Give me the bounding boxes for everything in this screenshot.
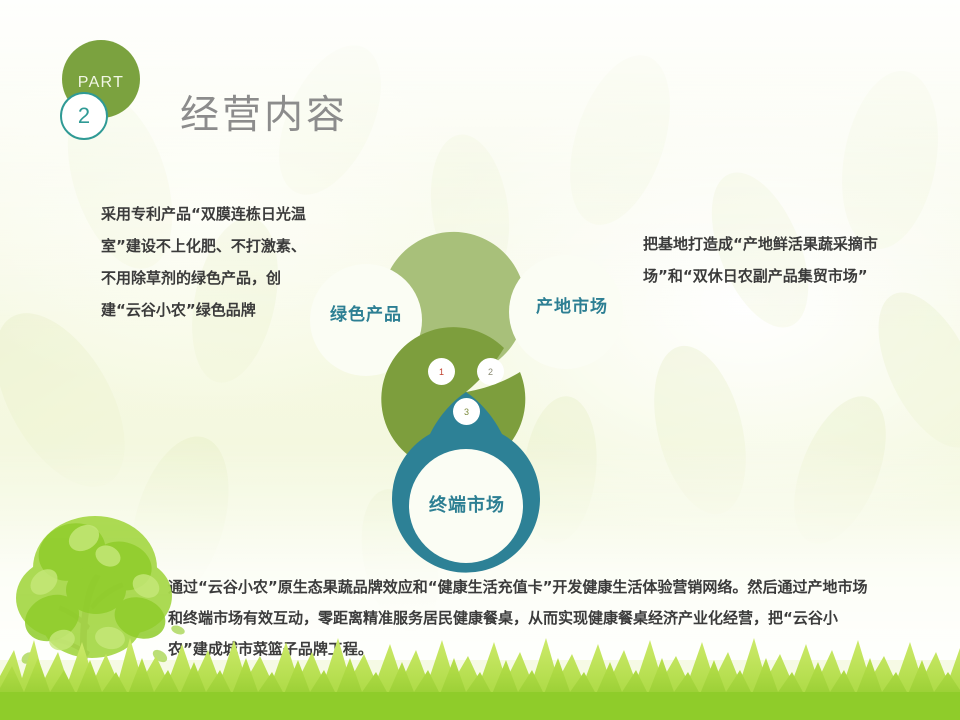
- description-origin-market: 把基地打造成“产地鲜活果蔬采摘市场”和“双休日农副产品集贸市场”: [643, 228, 888, 292]
- petal-label-terminal-market: 终端市场: [412, 491, 522, 517]
- slide-canvas: PART 2 经营内容: [0, 0, 960, 720]
- description-terminal-market: 通过“云谷小农”原生态果蔬品牌效应和“健康生活充值卡”开发健康生活体验营销网络。…: [168, 572, 868, 665]
- part-number-badge: 2: [60, 92, 108, 140]
- part-number-label: 2: [78, 103, 90, 129]
- petal-label-origin-market: 产地市场: [517, 292, 627, 317]
- description-green-product: 采用专利产品“双膜连栋日光温室”建设不上化肥、不打激素、不用除草剂的绿色产品，创…: [101, 198, 316, 326]
- petal-label-green-product: 绿色产品: [311, 300, 421, 325]
- part-badge-label: PART: [78, 74, 124, 92]
- petal-number-1: 1: [428, 358, 455, 385]
- petal-number-2: 2: [477, 358, 504, 385]
- petal-number-3: 3: [453, 398, 480, 425]
- page-title: 经营内容: [180, 84, 348, 140]
